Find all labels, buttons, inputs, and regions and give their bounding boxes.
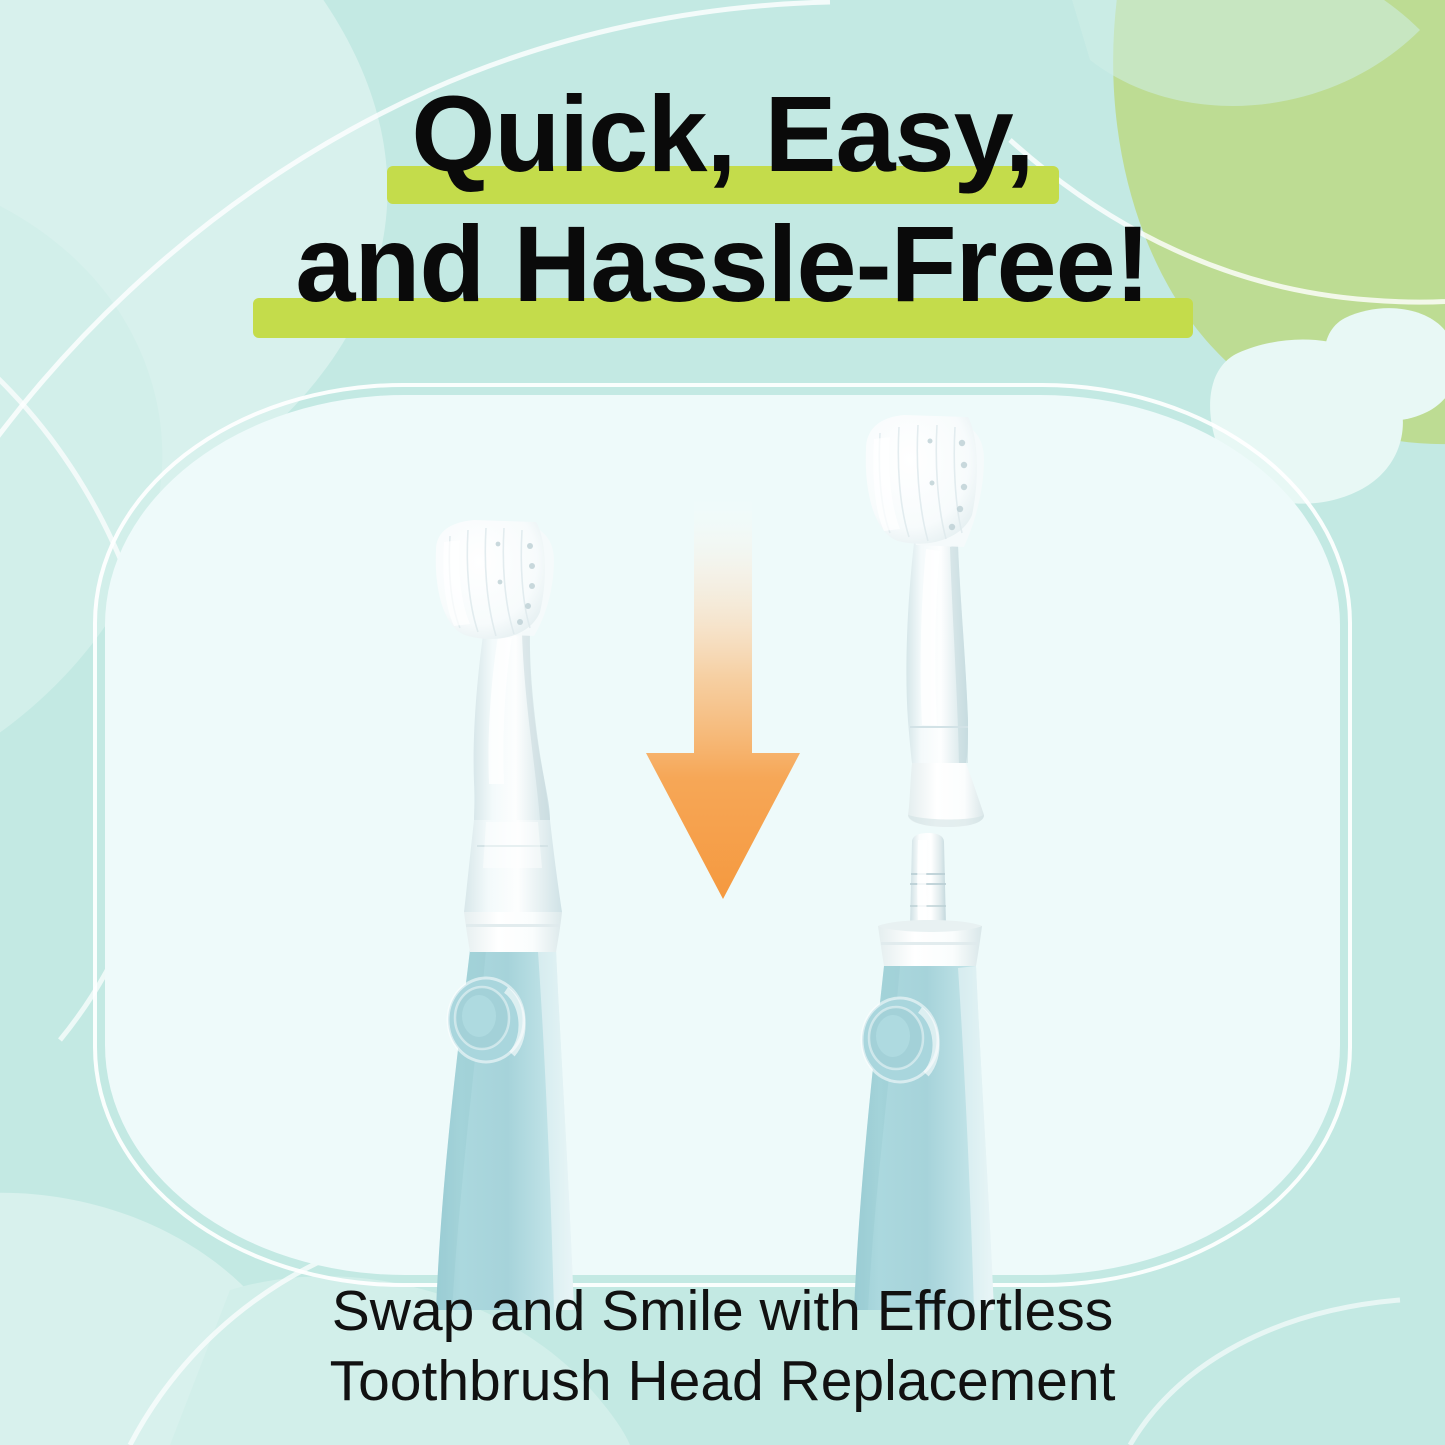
headline: Quick, Easy, and Hassle-Free! [0, 80, 1445, 342]
headline-line-2: and Hassle-Free! [0, 210, 1445, 342]
assembled-toothbrush [378, 520, 678, 1310]
collar-seam-right [881, 942, 978, 945]
collar-seam-left [466, 924, 560, 927]
toothbrush-handle-bare [800, 830, 1100, 1310]
caption-line-2: Toothbrush Head Replacement [0, 1347, 1445, 1417]
headline-line-1-text: Quick, Easy, [411, 80, 1033, 188]
caption-line-1: Swap and Smile with Effortless [0, 1277, 1445, 1347]
swap-down-arrow-icon [642, 495, 804, 907]
detached-head-base-collar [908, 763, 984, 827]
handle-collar-left [464, 912, 562, 952]
power-button-left[interactable] [448, 978, 524, 1062]
detached-brush-head [842, 415, 1052, 830]
detached-head-bristles [866, 415, 977, 544]
brush-head-base-inner-left [483, 822, 542, 868]
drive-shaft-post [910, 833, 946, 926]
arrow-shape [646, 495, 800, 899]
power-button-right[interactable] [862, 998, 938, 1082]
marketing-image-canvas: Quick, Easy, and Hassle-Free! [0, 0, 1445, 1445]
bristles-left [436, 520, 545, 639]
caption: Swap and Smile with Effortless Toothbrus… [0, 1277, 1445, 1416]
headline-line-1: Quick, Easy, [0, 80, 1445, 204]
headline-line-2-text: and Hassle-Free! [295, 210, 1149, 318]
